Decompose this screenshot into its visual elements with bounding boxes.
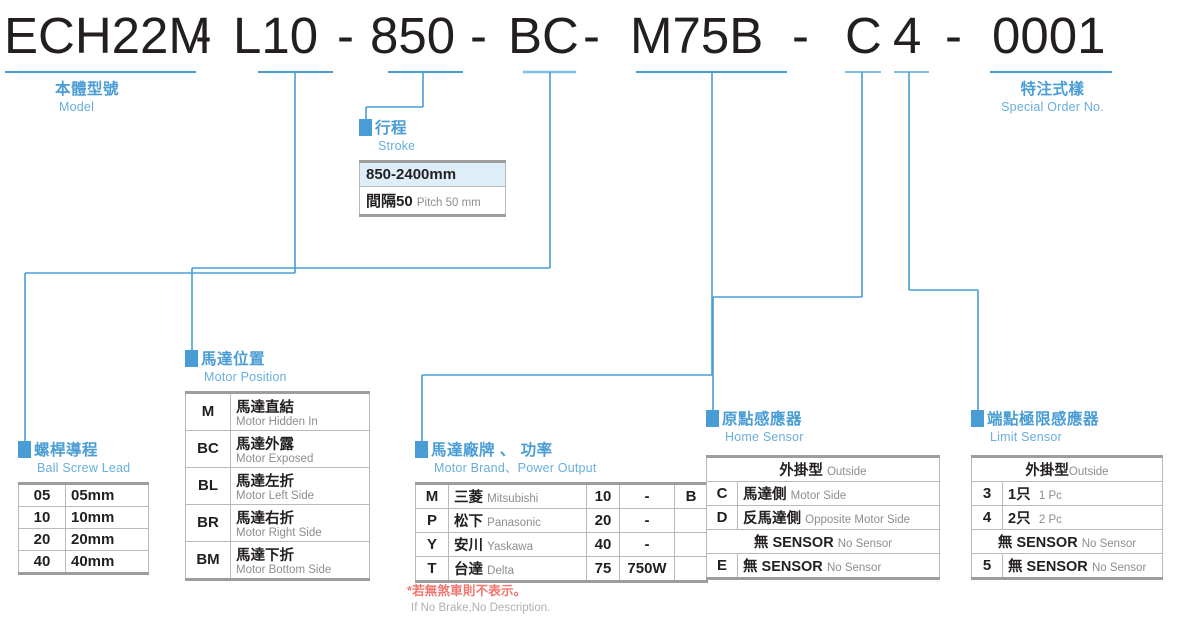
model-number-segment-10: C — [845, 6, 882, 66]
group-motor-brand-title-cn: 馬達廠牌 、 功率 — [431, 442, 553, 459]
model-number-segment-12: - — [945, 6, 962, 66]
group-model: 本體型號 Model — [55, 82, 119, 114]
model-number-segment-9: - — [792, 6, 809, 66]
brand-label: 松下 Panasonic — [449, 508, 587, 532]
marker-square-icon — [185, 350, 198, 367]
brake-note-cn: *若無煞車則不表示。 — [407, 584, 526, 598]
brand-en: Mitsubishi — [487, 493, 538, 505]
section-header-en: No Sensor — [838, 538, 892, 550]
group-model-title-cn: 本體型號 — [55, 81, 119, 98]
group-home-sensor: 原點感應器 Home Sensor 外掛型 Outside C 馬達側 Moto… — [706, 410, 940, 580]
brand-label: 三菱 Mitsubishi — [449, 483, 587, 508]
table-row[interactable]: 20 20mm — [19, 528, 149, 550]
model-number-segment-2: L10 — [233, 6, 318, 66]
table-row[interactable]: D 反馬達側 Opposite Motor Side — [707, 505, 940, 529]
group-motor-brand-header: 馬達廠牌 、 功率 Motor Brand、Power Output — [415, 441, 708, 475]
stroke-range-value: 850-2400mm — [360, 161, 506, 186]
home-sensor-cn: 反馬達側 — [743, 511, 801, 527]
table-row[interactable]: 40 40mm — [19, 550, 149, 573]
brand-code: T — [416, 556, 449, 581]
home-sensor-section-header: 無 SENSOR No Sensor — [707, 529, 940, 553]
model-number-segment-8: M75B — [630, 6, 763, 66]
group-ball-screw-lead: 螺桿導程 Ball Screw Lead 05 05mm 10 10mm 20 … — [18, 441, 149, 575]
power-output: - — [620, 483, 675, 508]
model-number-row: ECH22M-L10-850-BC-M75B-C4-0001 — [0, 0, 1180, 72]
power-code: 75 — [587, 556, 620, 581]
table-row[interactable]: 10 10mm — [19, 506, 149, 528]
marker-square-icon — [971, 410, 984, 427]
section-header-cn: 無 SENSOR — [998, 535, 1078, 551]
group-model-title-en: Model — [59, 101, 119, 114]
section-header-cn: 無 SENSOR — [754, 535, 834, 551]
group-special-order-header: 特注式樣 Special Order No. — [995, 82, 1110, 114]
motor-position-label: 馬達下折 Motor Bottom Side — [231, 541, 370, 579]
group-limit-sensor-header: 端點極限感應器 Limit Sensor — [971, 410, 1163, 444]
home-sensor-label: 無 SENSOR No Sensor — [738, 553, 940, 578]
marker-square-icon — [415, 441, 428, 458]
home-sensor-cn: 馬達側 — [743, 487, 787, 503]
power-code: 40 — [587, 532, 620, 556]
table-row[interactable]: Y 安川 Yaskawa 40 - — [416, 532, 708, 556]
group-special-order: 特注式樣 Special Order No. — [995, 82, 1110, 114]
limit-sensor-cn: 1只 — [1008, 487, 1031, 503]
brand-en: Delta — [487, 565, 514, 577]
lead-code: 40 — [19, 550, 66, 573]
brand-cn: 台達 — [454, 562, 483, 578]
limit-sensor-label: 1只 1 Pc — [1003, 481, 1163, 505]
table-row: 外掛型Outside — [972, 456, 1163, 481]
home-sensor-code: E — [707, 553, 738, 578]
power-code: 20 — [587, 508, 620, 532]
group-ball-screw-lead-title-en: Ball Screw Lead — [37, 462, 149, 475]
brake-code: B — [675, 483, 708, 508]
home-sensor-code: D — [707, 505, 738, 529]
model-number-segment-1: - — [195, 6, 212, 66]
table-row[interactable]: BL 馬達左折 Motor Left Side — [186, 467, 370, 504]
motor-brand-table: M 三菱 Mitsubishi 10 - B P 松下 Panasonic 20… — [415, 482, 708, 583]
limit-sensor-label: 無 SENSOR No Sensor — [1003, 553, 1163, 578]
motor-position-en: Motor Bottom Side — [236, 564, 364, 576]
motor-position-code: BR — [186, 504, 231, 541]
model-number-segment-11: 4 — [893, 6, 921, 66]
brand-cn: 三菱 — [454, 490, 483, 506]
table-row[interactable]: 5 無 SENSOR No Sensor — [972, 553, 1163, 578]
table-row[interactable]: BR 馬達右折 Motor Right Side — [186, 504, 370, 541]
section-header-cn: 外掛型 — [1025, 463, 1069, 479]
limit-sensor-label: 2只 2 Pc — [1003, 505, 1163, 529]
table-row[interactable]: C 馬達側 Motor Side — [707, 481, 940, 505]
motor-position-en: Motor Exposed — [236, 453, 364, 465]
brand-label: 安川 Yaskawa — [449, 532, 587, 556]
marker-square-icon — [706, 410, 719, 427]
table-row[interactable]: 05 05mm — [19, 483, 149, 506]
home-sensor-cn: 無 SENSOR — [743, 559, 823, 575]
section-header-cn: 外掛型 — [779, 463, 823, 479]
limit-sensor-code: 3 — [972, 481, 1003, 505]
power-output: - — [620, 508, 675, 532]
lead-value: 20mm — [66, 528, 149, 550]
brake-note-en: If No Brake,No Description. — [411, 602, 550, 614]
group-motor-position-header: 馬達位置 Motor Position — [185, 350, 370, 384]
model-number-segment-3: - — [337, 6, 354, 66]
group-stroke-title-cn: 行程 — [375, 120, 407, 137]
model-number-segment-6: BC — [508, 6, 579, 66]
home-sensor-en: Opposite Motor Side — [805, 514, 910, 526]
group-home-sensor-title-en: Home Sensor — [725, 431, 940, 444]
table-row[interactable]: BC 馬達外露 Motor Exposed — [186, 430, 370, 467]
stroke-table: 850-2400mm 間隔50 Pitch 50 mm — [359, 160, 506, 217]
lead-value: 40mm — [66, 550, 149, 573]
home-sensor-label: 馬達側 Motor Side — [738, 481, 940, 505]
group-stroke: 行程 Stroke 850-2400mm 間隔50 Pitch 50 mm — [359, 119, 506, 217]
table-row[interactable]: 4 2只 2 Pc — [972, 505, 1163, 529]
motor-position-en: Motor Right Side — [236, 527, 364, 539]
section-header-en: No Sensor — [1082, 538, 1136, 550]
ball-screw-lead-table: 05 05mm 10 10mm 20 20mm 40 40mm — [18, 482, 149, 575]
group-model-header: 本體型號 Model — [55, 82, 119, 114]
power-output: - — [620, 532, 675, 556]
motor-position-en: Motor Hidden In — [236, 416, 364, 428]
model-number-segment-0: ECH22M — [4, 6, 211, 66]
table-row[interactable]: E 無 SENSOR No Sensor — [707, 553, 940, 578]
model-number-segment-5: - — [470, 6, 487, 66]
brand-cn: 松下 — [454, 514, 483, 530]
motor-position-code: M — [186, 392, 231, 430]
brake-code — [675, 556, 708, 581]
group-stroke-header: 行程 Stroke — [359, 119, 506, 153]
motor-position-label: 馬達右折 Motor Right Side — [231, 504, 370, 541]
table-row: 無 SENSOR No Sensor — [972, 529, 1163, 553]
group-stroke-title-en: Stroke — [378, 140, 506, 153]
table-row: 無 SENSOR No Sensor — [707, 529, 940, 553]
motor-position-cn: 馬達右折 — [236, 511, 294, 527]
motor-position-cn: 馬達左折 — [236, 474, 294, 490]
table-row[interactable]: 3 1只 1 Pc — [972, 481, 1163, 505]
brand-en: Yaskawa — [487, 541, 533, 553]
motor-position-cn: 馬達下折 — [236, 548, 294, 564]
group-home-sensor-title-cn: 原點感應器 — [722, 411, 802, 428]
table-row[interactable]: T 台達 Delta 75 750W — [416, 556, 708, 581]
group-ball-screw-lead-title-cn: 螺桿導程 — [34, 442, 98, 459]
table-row[interactable]: 850-2400mm — [360, 161, 506, 186]
home-sensor-en: Motor Side — [791, 490, 847, 502]
power-output: 750W — [620, 556, 675, 581]
brake-code — [675, 508, 708, 532]
limit-sensor-table: 外掛型Outside 3 1只 1 Pc 4 2只 2 Pc 無 SENSOR … — [971, 455, 1163, 580]
brand-en: Panasonic — [487, 517, 541, 529]
brand-code: M — [416, 483, 449, 508]
home-sensor-code: C — [707, 481, 738, 505]
lead-code: 20 — [19, 528, 66, 550]
motor-position-table: M 馬達直結 Motor Hidden In BC 馬達外露 Motor Exp… — [185, 391, 370, 581]
lead-code: 10 — [19, 506, 66, 528]
table-row[interactable]: 間隔50 Pitch 50 mm — [360, 186, 506, 215]
limit-sensor-section-header: 無 SENSOR No Sensor — [972, 529, 1163, 553]
lead-code: 05 — [19, 483, 66, 506]
lead-value: 05mm — [66, 483, 149, 506]
brand-cn: 安川 — [454, 538, 483, 554]
limit-sensor-cn: 無 SENSOR — [1008, 559, 1088, 575]
motor-position-en: Motor Left Side — [236, 490, 364, 502]
limit-sensor-en: No Sensor — [1092, 562, 1146, 574]
stroke-pitch-cn: 間隔50 — [366, 193, 413, 210]
group-motor-brand: 馬達廠牌 、 功率 Motor Brand、Power Output M 三菱 … — [415, 441, 708, 583]
marker-square-icon — [359, 119, 372, 136]
group-ball-screw-lead-header: 螺桿導程 Ball Screw Lead — [18, 441, 149, 475]
limit-sensor-en: 1 Pc — [1039, 490, 1062, 502]
limit-sensor-en: 2 Pc — [1039, 514, 1062, 526]
limit-sensor-code: 4 — [972, 505, 1003, 529]
group-motor-position-title-en: Motor Position — [204, 371, 370, 384]
stroke-pitch-en: Pitch 50 mm — [417, 197, 481, 209]
limit-sensor-cn: 2只 — [1008, 511, 1031, 527]
table-row[interactable]: M 三菱 Mitsubishi 10 - B — [416, 483, 708, 508]
group-motor-position: 馬達位置 Motor Position M 馬達直結 Motor Hidden … — [185, 350, 370, 581]
group-special-order-title-cn: 特注式樣 — [1020, 81, 1084, 98]
group-home-sensor-header: 原點感應器 Home Sensor — [706, 410, 940, 444]
home-sensor-table: 外掛型 Outside C 馬達側 Motor Side D 反馬達側 Oppo… — [706, 455, 940, 580]
motor-position-code: BL — [186, 467, 231, 504]
motor-position-code: BM — [186, 541, 231, 579]
table-row[interactable]: P 松下 Panasonic 20 - — [416, 508, 708, 532]
motor-position-label: 馬達左折 Motor Left Side — [231, 467, 370, 504]
brake-code — [675, 532, 708, 556]
group-special-order-title-en: Special Order No. — [995, 101, 1110, 114]
model-number-segment-7: - — [583, 6, 600, 66]
motor-position-label: 馬達外露 Motor Exposed — [231, 430, 370, 467]
group-limit-sensor-title-en: Limit Sensor — [990, 431, 1163, 444]
table-row: 外掛型 Outside — [707, 456, 940, 481]
model-number-segment-4: 850 — [370, 6, 455, 66]
table-row[interactable]: BM 馬達下折 Motor Bottom Side — [186, 541, 370, 579]
brand-label: 台達 Delta — [449, 556, 587, 581]
marker-square-icon — [18, 441, 31, 458]
limit-sensor-code: 5 — [972, 553, 1003, 578]
motor-position-label: 馬達直結 Motor Hidden In — [231, 392, 370, 430]
power-code: 10 — [587, 483, 620, 508]
home-sensor-en: No Sensor — [827, 562, 881, 574]
brand-code: Y — [416, 532, 449, 556]
model-number-segment-13: 0001 — [992, 6, 1105, 66]
group-motor-brand-title-en: Motor Brand、Power Output — [434, 462, 708, 475]
motor-position-code: BC — [186, 430, 231, 467]
motor-position-cn: 馬達外露 — [236, 437, 294, 453]
brake-note: *若無煞車則不表示。 If No Brake,No Description. — [407, 580, 550, 614]
table-row[interactable]: M 馬達直結 Motor Hidden In — [186, 392, 370, 430]
home-sensor-section-header: 外掛型 Outside — [707, 456, 940, 481]
stroke-pitch-cell: 間隔50 Pitch 50 mm — [360, 186, 506, 215]
group-limit-sensor-title-cn: 端點極限感應器 — [987, 411, 1099, 428]
motor-position-cn: 馬達直結 — [236, 400, 294, 416]
home-sensor-label: 反馬達側 Opposite Motor Side — [738, 505, 940, 529]
group-limit-sensor: 端點極限感應器 Limit Sensor 外掛型Outside 3 1只 1 P… — [971, 410, 1163, 580]
section-header-en: Outside — [1069, 466, 1109, 478]
section-header-en: Outside — [827, 466, 867, 478]
lead-value: 10mm — [66, 506, 149, 528]
group-motor-position-title-cn: 馬達位置 — [201, 351, 265, 368]
brand-code: P — [416, 508, 449, 532]
limit-sensor-section-header: 外掛型Outside — [972, 456, 1163, 481]
